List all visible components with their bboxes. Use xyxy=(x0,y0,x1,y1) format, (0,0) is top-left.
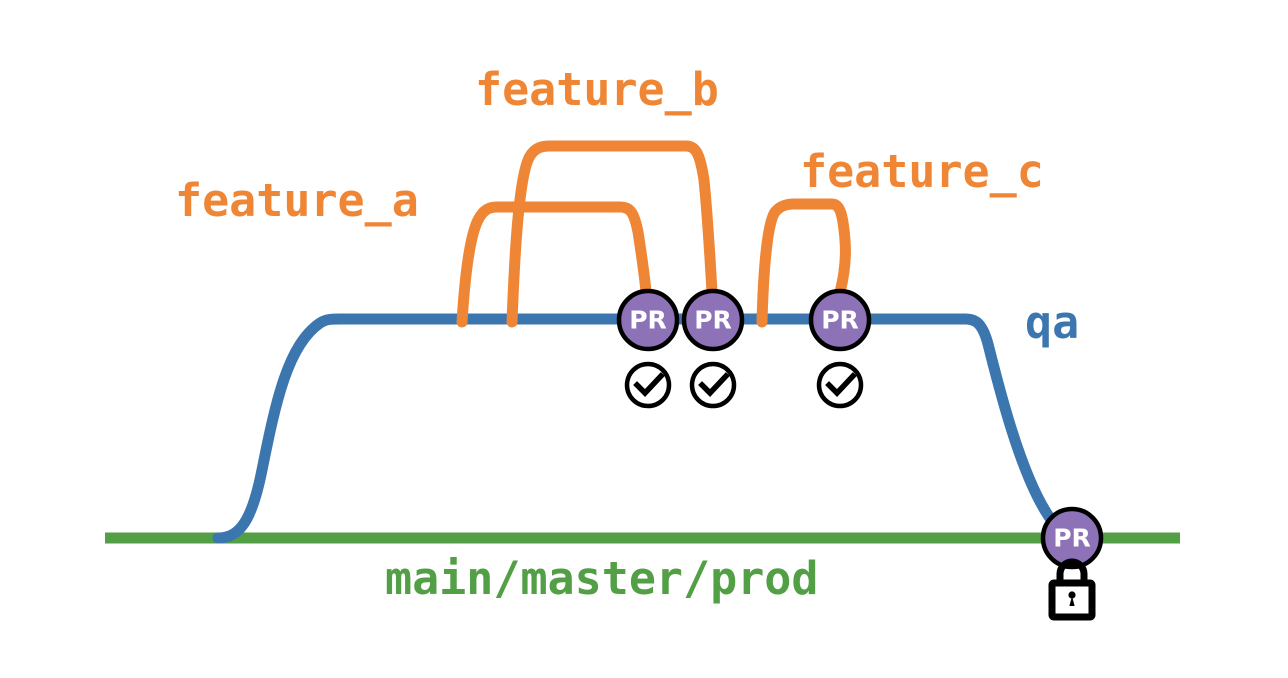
lock-icon xyxy=(1052,562,1092,617)
feature-a-branch-line xyxy=(462,207,646,322)
branch-label-main: main/master/prod xyxy=(385,552,818,605)
check-circle-icon-feature-a xyxy=(627,364,669,406)
pr-node-label: PR xyxy=(821,306,859,335)
diagram-canvas: PR PR PR PR xyxy=(0,0,1288,678)
check-circle-icon-feature-b xyxy=(692,364,734,406)
branch-label-feature-c: feature_c xyxy=(800,145,1044,198)
branch-feature-a xyxy=(462,207,646,322)
branch-label-qa: qa xyxy=(1025,296,1079,349)
pr-node-feature-c[interactable]: PR xyxy=(811,291,869,349)
feature-b-branch-line xyxy=(512,146,712,322)
qa-branch-line xyxy=(218,319,1066,538)
pr-node-label: PR xyxy=(629,306,667,335)
branch-qa xyxy=(218,319,1066,538)
git-branching-diagram: PR PR PR PR xyxy=(0,0,1288,678)
pr-node-feature-b[interactable]: PR xyxy=(684,291,742,349)
pr-node-qa-to-main[interactable]: PR xyxy=(1043,509,1101,567)
pr-node-feature-a[interactable]: PR xyxy=(619,291,677,349)
branch-label-feature-b: feature_b xyxy=(475,63,719,116)
branch-feature-b xyxy=(512,146,712,322)
check-circle-icon-feature-c xyxy=(819,364,861,406)
pr-node-label: PR xyxy=(1053,524,1091,553)
branch-label-feature-a: feature_a xyxy=(175,174,419,227)
pr-node-label: PR xyxy=(694,306,732,335)
